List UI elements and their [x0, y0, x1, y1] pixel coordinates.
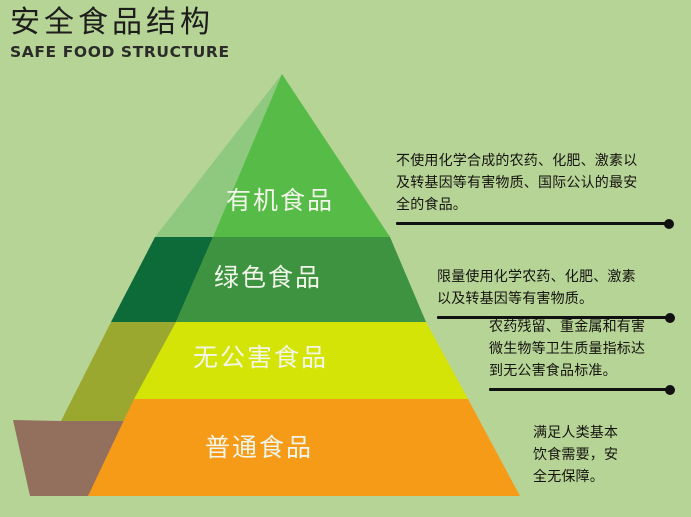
rule-line: [396, 222, 668, 225]
callout-green: 限量使用化学农药、化肥、激素 以及转基因等有害物质。: [437, 266, 685, 322]
title-block: 安全食品结构 SAFE FOOD STRUCTURE: [10, 4, 340, 62]
pyramid-tier-label-pollution-free: 无公害食品: [193, 345, 328, 370]
callout-green-line-2: 以及转基因等有害物质。: [437, 288, 685, 310]
callout-organic-line-1: 不使用化学合成的农药、化肥、激素以: [396, 150, 684, 172]
callout-organic-line-2: 及转基因等有害物质、国际公认的最安: [396, 172, 684, 194]
callout-pollution-free-line-1: 农药残留、重金属和有害: [489, 316, 685, 338]
callout-pollution-free-line-3: 到无公害食品标准。: [489, 360, 685, 382]
pyramid-tier-label-ordinary: 普通食品: [205, 435, 313, 460]
callout-pollution-free-line-2: 微生物等卫生质量指标达: [489, 338, 685, 360]
callout-organic-rule: [396, 218, 684, 228]
callout-pollution-free: 农药残留、重金属和有害 微生物等卫生质量指标达 到无公害食品标准。: [489, 316, 685, 394]
pyramid-tier-label-organic: 有机食品: [226, 188, 334, 213]
pyramid-tier-4-side: [13, 420, 131, 496]
page-title-cn: 安全食品结构: [10, 4, 340, 42]
pyramid-tier-label-green: 绿色食品: [214, 265, 322, 290]
callout-organic-line-3: 全的食品。: [396, 194, 684, 216]
pyramid-tier-2-side: [111, 237, 213, 322]
callout-organic: 不使用化学合成的农药、化肥、激素以 及转基因等有害物质、国际公认的最安 全的食品…: [396, 150, 684, 228]
callout-ordinary-line-3: 全无保障。: [533, 466, 685, 488]
infographic-canvas: 安全食品结构 SAFE FOOD STRUCTURE 有机食品 绿色食品 无公害…: [0, 0, 691, 517]
callout-ordinary: 满足人类基本 饮食需要，安 全无保障。: [533, 422, 685, 488]
rule-endpoint-dot: [665, 385, 675, 395]
pyramid-tier-3-side: [61, 322, 176, 421]
callout-ordinary-line-1: 满足人类基本: [533, 422, 685, 444]
callout-green-line-1: 限量使用化学农药、化肥、激素: [437, 266, 685, 288]
callout-pollution-free-rule: [489, 384, 685, 394]
callout-ordinary-line-2: 饮食需要，安: [533, 444, 685, 466]
page-title-en: SAFE FOOD STRUCTURE: [10, 43, 340, 62]
rule-line: [489, 388, 669, 391]
rule-endpoint-dot: [664, 219, 674, 229]
